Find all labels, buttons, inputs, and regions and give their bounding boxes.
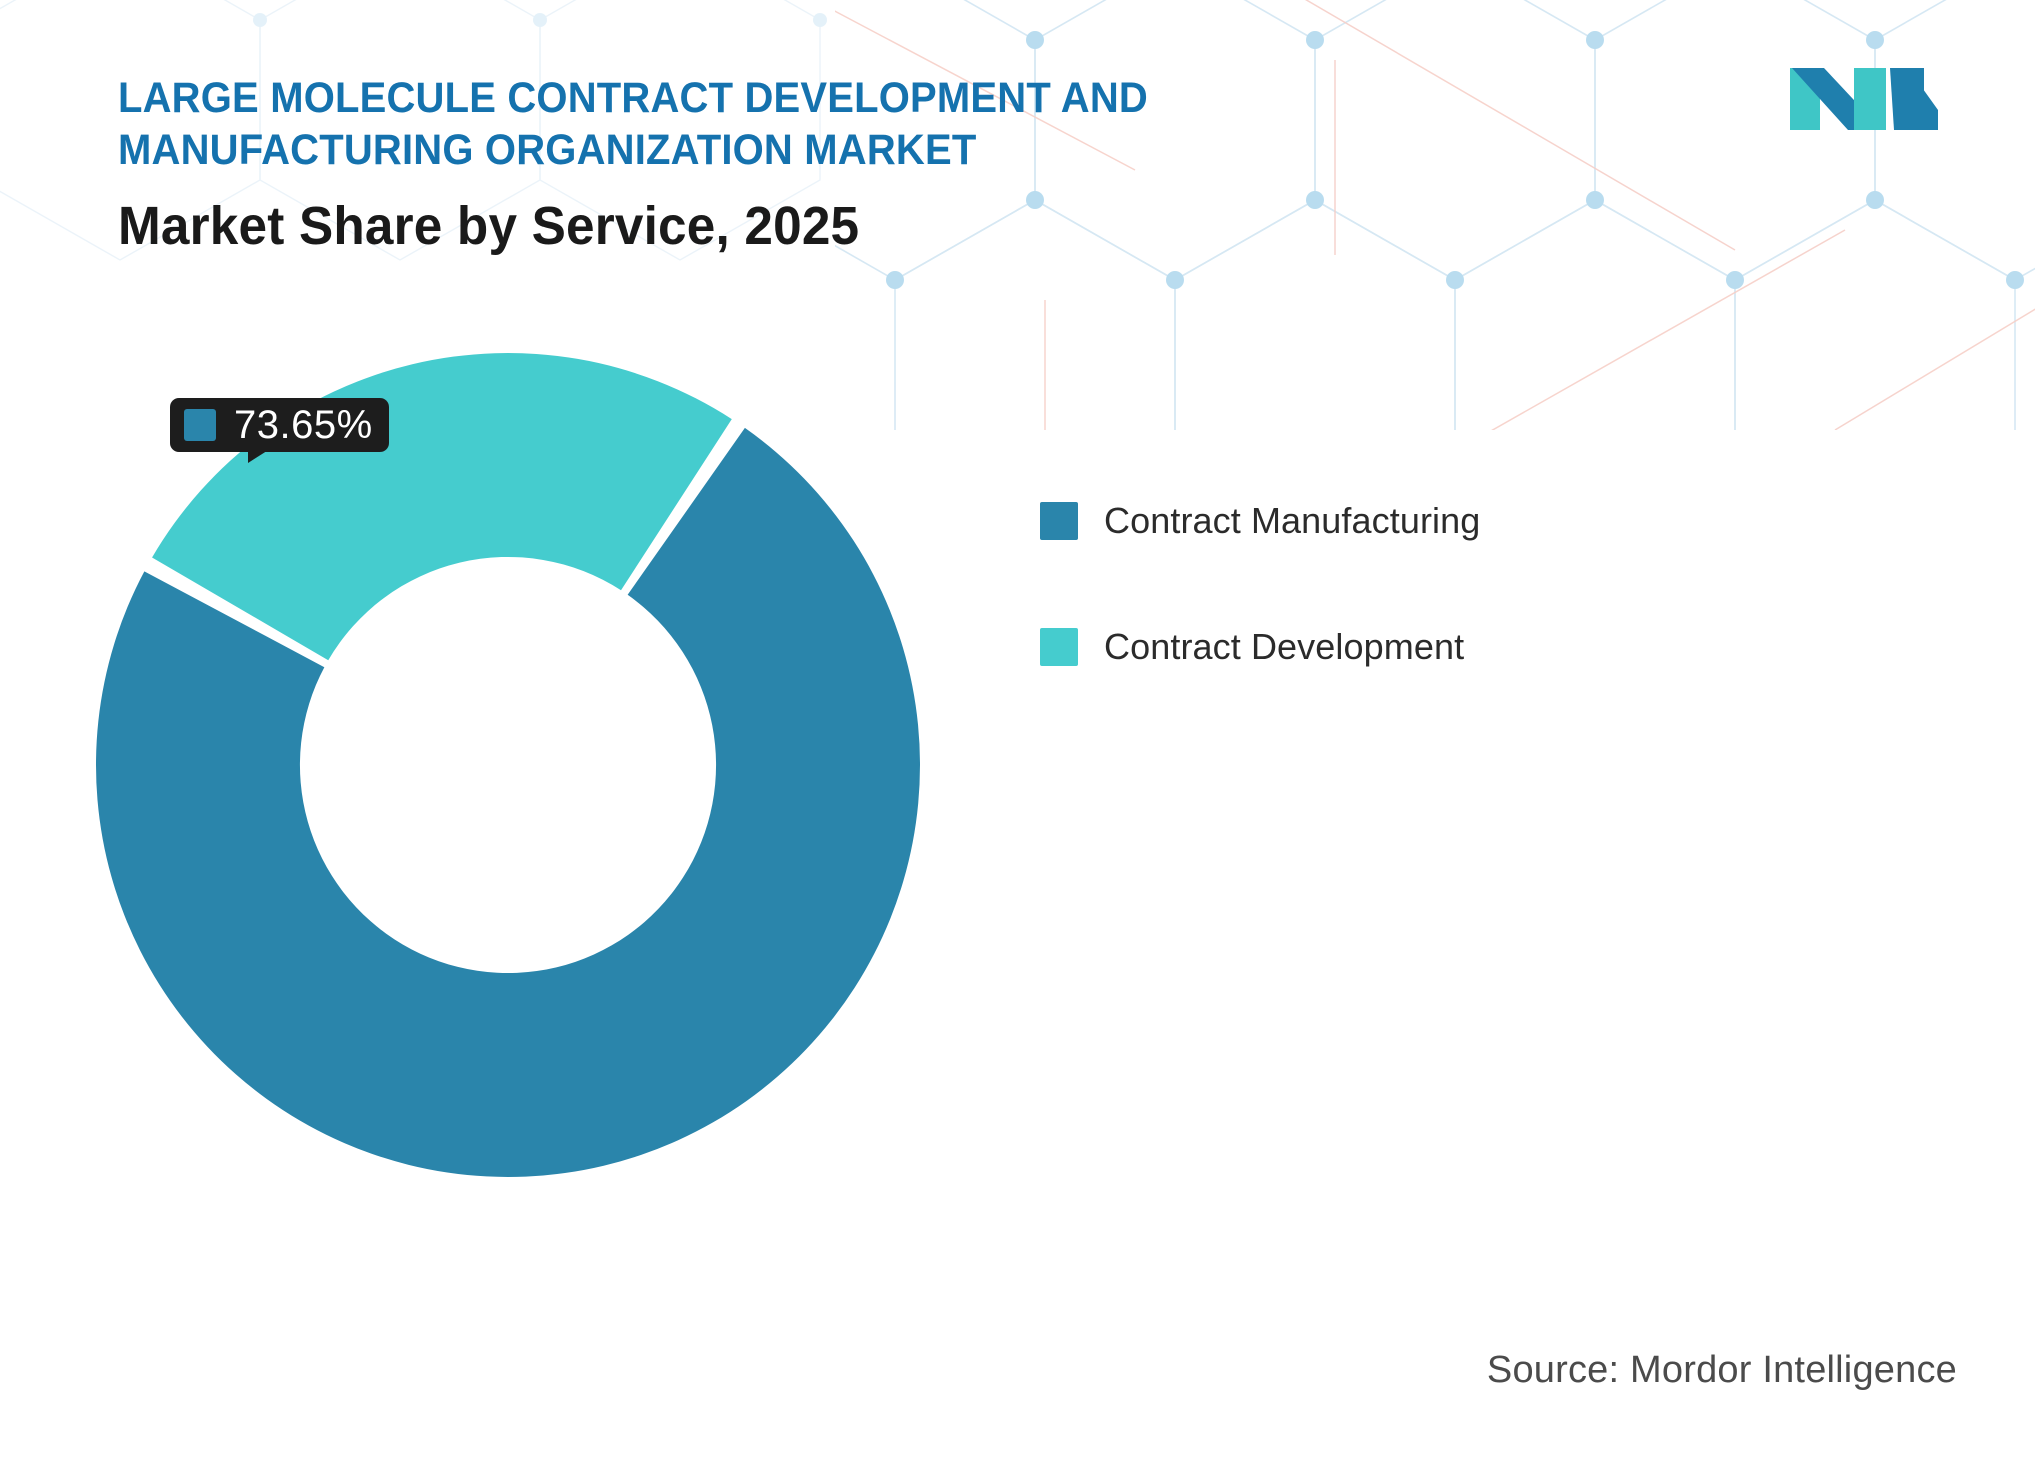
page-subtitle: Market Share by Service, 2025 [118, 195, 1353, 257]
legend-label-contract-manufacturing: Contract Manufacturing [1104, 500, 1480, 542]
data-tooltip: 73.65% [170, 398, 389, 452]
legend-label-contract-development: Contract Development [1104, 626, 1464, 668]
legend-swatch-contract-manufacturing [1040, 502, 1078, 540]
donut-chart [0, 330, 960, 1230]
page-title: LARGE MOLECULE CONTRACT DEVELOPMENT AND … [118, 72, 1420, 176]
donut-chart-svg [0, 330, 960, 1230]
tooltip-value-label: 73.65% [234, 403, 373, 448]
mordor-intelligence-logo-icon [1790, 58, 1938, 140]
header: LARGE MOLECULE CONTRACT DEVELOPMENT AND … [0, 0, 2035, 270]
source-attribution: Source: Mordor Intelligence [1487, 1349, 1957, 1392]
chart-page: LARGE MOLECULE CONTRACT DEVELOPMENT AND … [0, 0, 2035, 1480]
legend-item-contract-manufacturing[interactable]: Contract Manufacturing [1040, 500, 1740, 542]
legend-item-contract-development[interactable]: Contract Development [1040, 626, 1740, 668]
chart-legend: Contract Manufacturing Contract Developm… [1040, 500, 1740, 752]
tooltip-color-swatch [184, 409, 216, 441]
legend-swatch-contract-development [1040, 628, 1078, 666]
